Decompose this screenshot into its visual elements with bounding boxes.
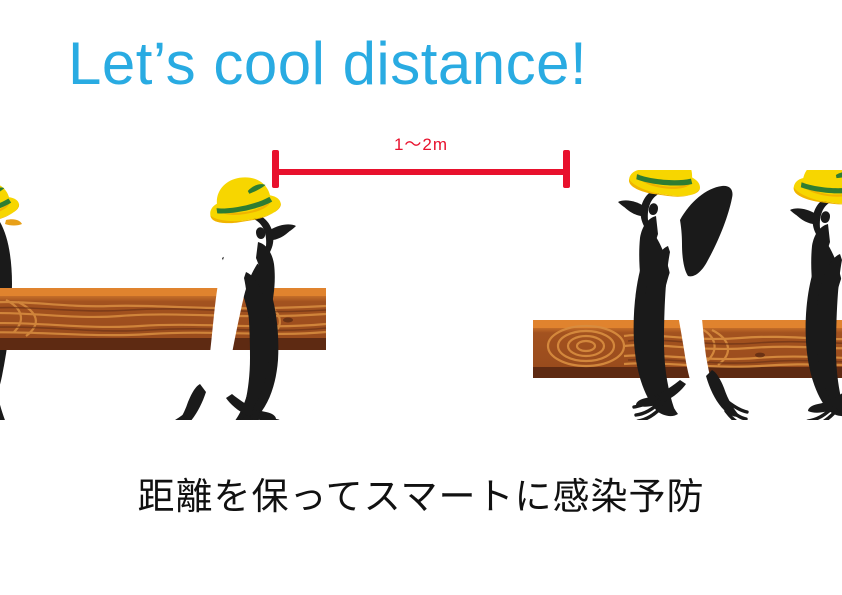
caption-text: 距離を保ってスマートに感染予防	[0, 466, 842, 520]
penguin-far-right	[790, 156, 842, 429]
illustration-scene	[0, 180, 842, 410]
hat-far-right	[792, 156, 842, 208]
hat-left	[205, 172, 282, 226]
penguins-illustration	[0, 180, 842, 410]
poster-canvas: Let’s cool distance! 1～2m	[0, 0, 842, 595]
page-title: Let’s cool distance!	[68, 28, 587, 100]
measurement-line	[272, 169, 568, 175]
penguin-right	[618, 147, 747, 425]
hat-right	[628, 147, 705, 200]
distance-label: 1～2m	[270, 130, 572, 155]
